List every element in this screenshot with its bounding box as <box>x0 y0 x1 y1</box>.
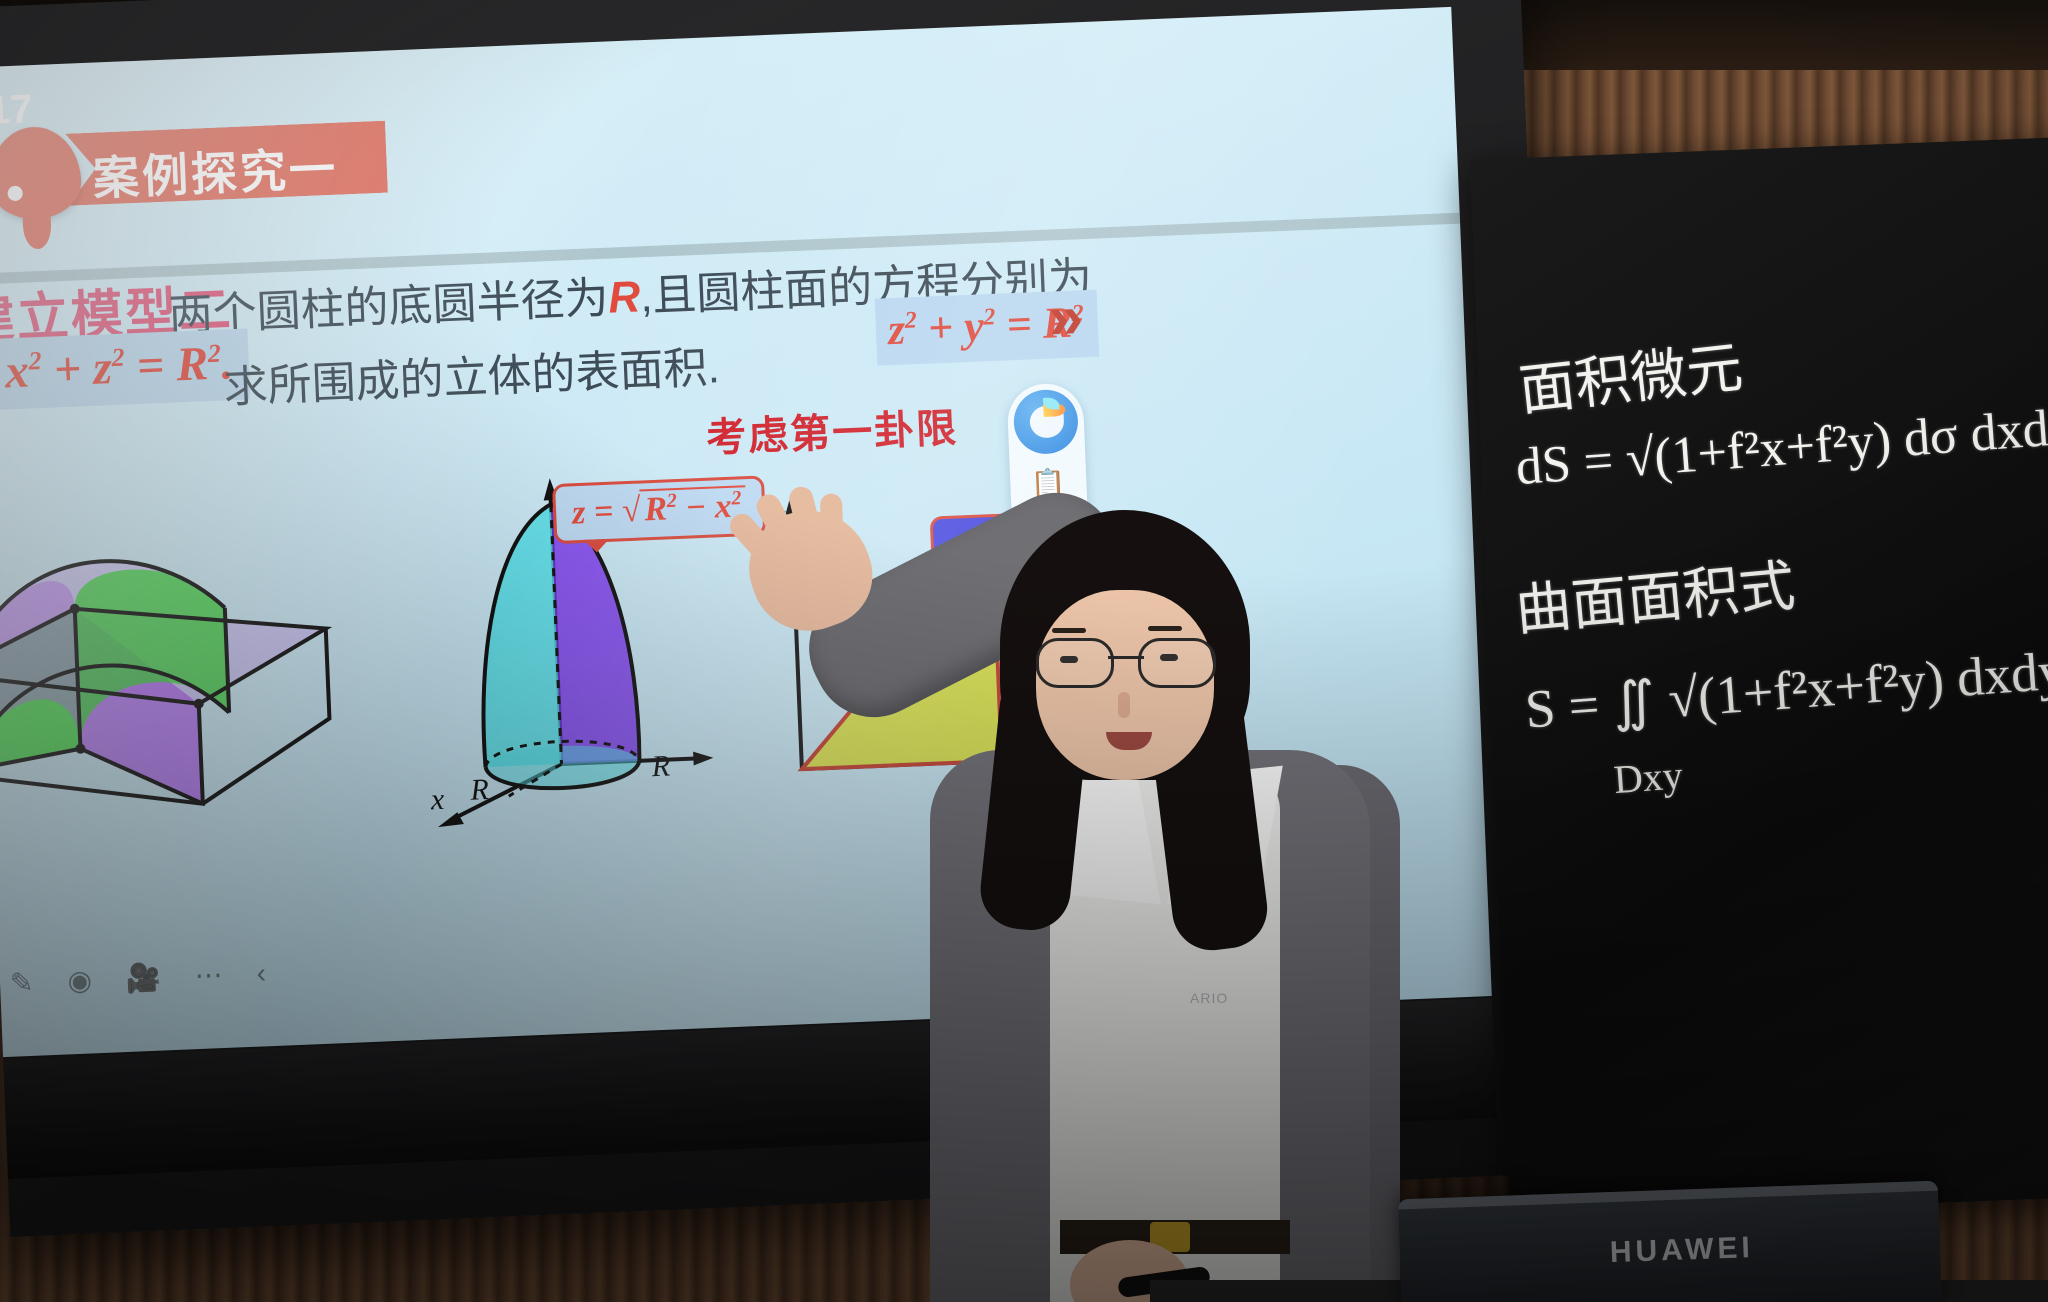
vignette <box>0 0 2048 1302</box>
screenshot-root: 17 案例探究一 建立模型二 两个圆柱的底圆半径为R,且圆柱面的方程分别为 及 … <box>0 0 2048 1302</box>
